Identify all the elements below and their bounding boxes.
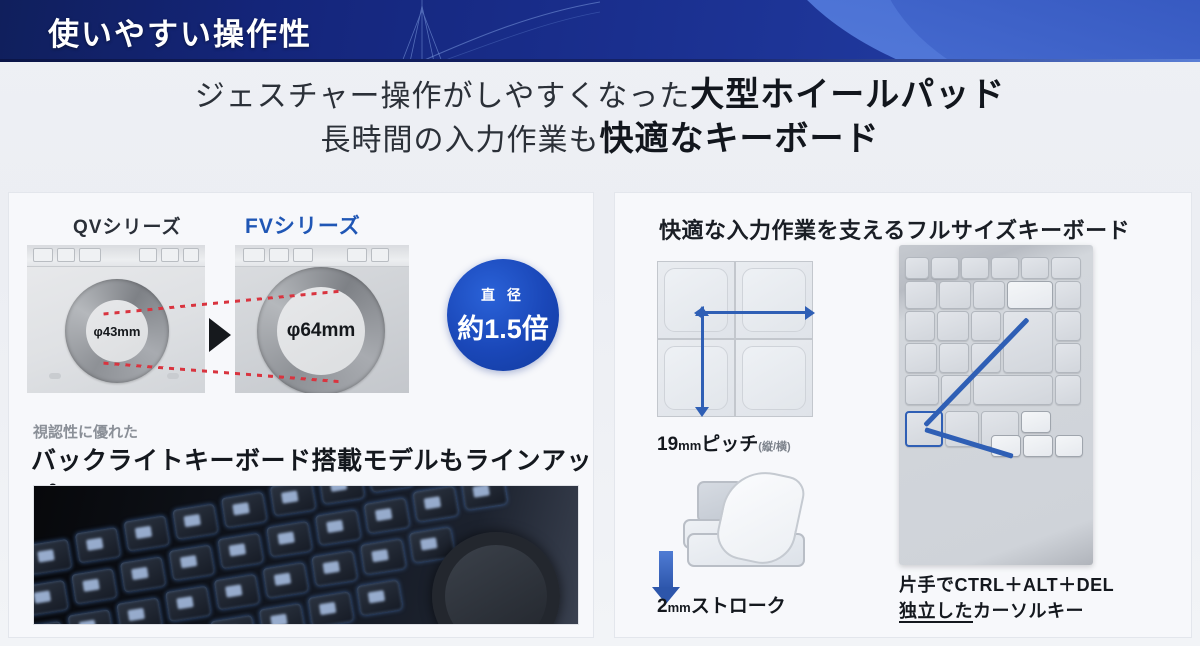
- subtitle-line-1-light: ジェスチャー操作がしやすくなった: [195, 80, 690, 113]
- keyboard-footnote-1: 片手でCTRL＋ALT＋DEL: [899, 571, 1114, 597]
- header-arc-icon: [420, 0, 600, 62]
- key-pitch-diagram: [657, 261, 817, 421]
- pitch-arrow-horizontal: [703, 311, 807, 314]
- page-title: 使いやすい操作性: [48, 9, 312, 54]
- subtitle-line-1-strong: 大型ホイールパッド: [690, 76, 1005, 114]
- keyboard-closeup-photo: [899, 245, 1093, 565]
- subtitle-line-1: ジェスチャー操作がしやすくなった大型ホイールパッド: [0, 74, 1200, 118]
- badge-label-small: 直 径: [481, 285, 525, 305]
- slide-root: 使いやすい操作性 ジェスチャー操作がしやすくなった大型ホイールパッド 長時間の入…: [0, 0, 1200, 646]
- wheelpad-photo-old: φ43mm: [27, 245, 205, 393]
- header-underline: [0, 59, 1200, 62]
- pitch-label: ピッチ: [701, 434, 758, 455]
- backlight-subcaption: 視認性に優れた: [33, 421, 138, 442]
- keyboard-footnote-2-underlined: 独立した: [899, 601, 973, 623]
- subtitle-line-2-light: 長時間の入力作業も: [321, 124, 600, 157]
- stroke-caption: 2mmストローク: [657, 591, 786, 618]
- stroke-unit: mm: [668, 600, 691, 615]
- wheelpad-panel: QVシリーズ FVシリーズ φ43mm: [8, 192, 594, 638]
- pitch-unit: mm: [678, 438, 701, 453]
- pitch-arrow-vertical: [701, 313, 704, 413]
- diameter-badge: 直 径 約1.5倍: [447, 259, 559, 371]
- pitch-paren: (縦/横): [758, 441, 790, 453]
- pitch-value: 19: [657, 434, 678, 455]
- pitch-arrowhead-right-icon: [805, 306, 815, 320]
- subtitle-block: ジェスチャー操作がしやすくなった大型ホイールパッド 長時間の入力作業も快適なキー…: [0, 74, 1200, 161]
- subtitle-line-2: 長時間の入力作業も快適なキーボード: [0, 118, 1200, 162]
- palmrest-top-keys-new: [235, 245, 409, 267]
- slide-header: 使いやすい操作性: [0, 0, 1200, 62]
- keyboard-panel-heading: 快適な入力作業を支えるフルサイズキーボード: [659, 213, 1130, 245]
- keyboard-footnote-2: 独立したカーソルキー: [899, 597, 1084, 623]
- series-label-old: QVシリーズ: [73, 212, 182, 239]
- backlight-keyboard-photo: [33, 485, 579, 625]
- palmrest-top-keys: [27, 245, 205, 267]
- keyboard-panel: 快適な入力作業を支えるフルサイズキーボード 19mmピッチ(縦/横): [614, 192, 1192, 638]
- comparison-arrow-icon: [209, 318, 231, 352]
- pitch-arrowhead-down-icon: [695, 407, 709, 417]
- pitch-caption: 19mmピッチ(縦/横): [657, 429, 791, 456]
- stroke-value: 2: [657, 596, 668, 617]
- pitch-arrowhead-up-icon: [695, 306, 709, 316]
- subtitle-line-2-strong: 快適なキーボード: [600, 120, 880, 158]
- badge-label-large: 約1.5倍: [457, 307, 549, 346]
- stroke-label: ストローク: [691, 596, 786, 617]
- series-label-new: FVシリーズ: [245, 210, 361, 240]
- wheelpad-photo-new: φ64mm: [235, 245, 409, 393]
- key-stroke-diagram: [655, 471, 835, 589]
- wheelpad-ring-new: φ64mm: [257, 267, 385, 393]
- keyboard-footnote-2-rest: カーソルキー: [973, 601, 1084, 621]
- wheelpad-diameter-new: φ64mm: [277, 287, 365, 375]
